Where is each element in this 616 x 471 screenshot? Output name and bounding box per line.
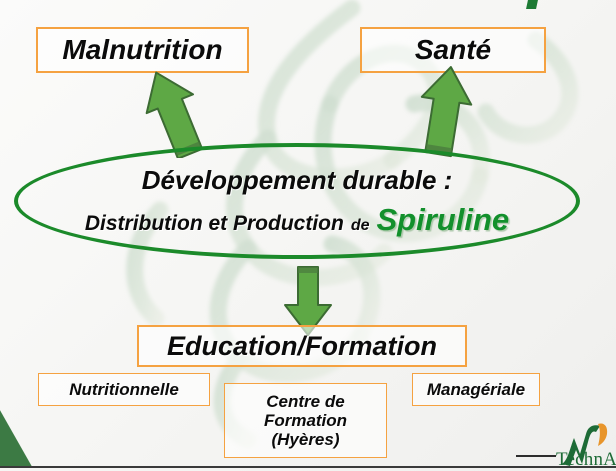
slide-canvas: Malnutrition Santé Développement durable… [0,0,616,471]
logo-underline [516,455,556,457]
logo-wordmark: TechnA [556,449,616,471]
box-sante[interactable]: Santé [360,27,546,73]
centre-line-2: Formation [264,411,347,430]
box-nutritionnelle[interactable]: Nutritionnelle [38,373,210,406]
central-ellipse [14,143,580,259]
box-centre-de-formation[interactable]: Centre de Formation (Hyères) [224,383,387,458]
top-accent-mark [526,0,538,9]
arrow-up-left-icon [138,62,224,158]
centre-line-1: Centre de [266,392,344,411]
arrow-up-right-icon [398,62,484,158]
centre-line-3: (Hyères) [271,430,339,449]
box-manageriale[interactable]: Managériale [412,373,540,406]
box-malnutrition[interactable]: Malnutrition [36,27,249,73]
bottom-rule-divider [0,466,616,468]
corner-triangle-decoration [0,406,34,466]
box-education-formation[interactable]: Education/Formation [137,325,467,367]
